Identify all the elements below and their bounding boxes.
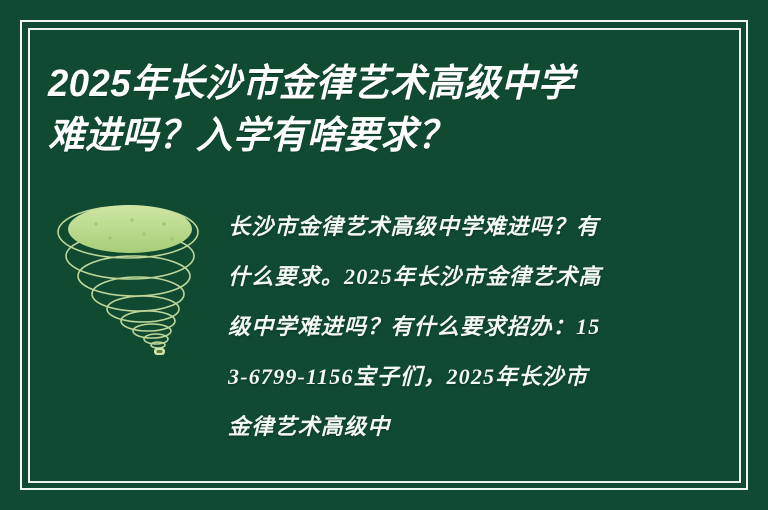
title-line-2: 难进吗？入学有啥要求？ — [48, 110, 682, 162]
tornado-icon — [44, 196, 224, 376]
title-line-1: 2025年长沙市金律艺术高级中学 — [48, 58, 682, 110]
page-title: 2025年长沙市金律艺术高级中学 难进吗？入学有啥要求？ — [48, 58, 708, 162]
body-text-block: 长沙市金律艺术高级中学难进吗？有什么要求。2025年长沙市金律艺术高级中学难进吗… — [228, 202, 606, 454]
poster-canvas: 2025年长沙市金律艺术高级中学 难进吗？入学有啥要求？ — [0, 0, 768, 510]
body-paragraph: 长沙市金律艺术高级中学难进吗？有什么要求。2025年长沙市金律艺术高级中学难进吗… — [228, 202, 606, 452]
